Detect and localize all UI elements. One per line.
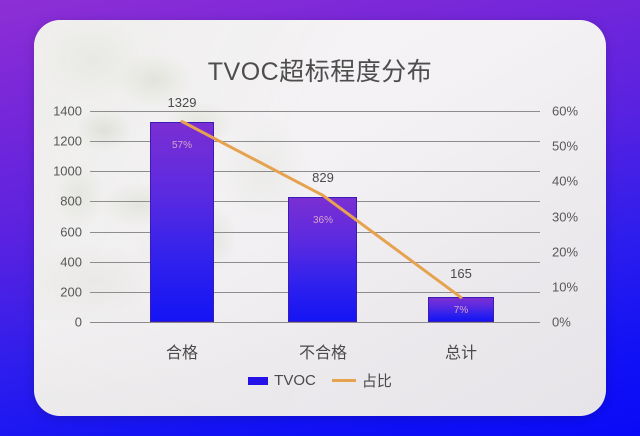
x-axis-label: 合格 bbox=[166, 339, 198, 363]
legend-item-percentage[interactable]: 占比 bbox=[332, 370, 392, 391]
y-axis-tick: 800 bbox=[60, 194, 82, 209]
y2-axis-tick: 60% bbox=[552, 104, 578, 119]
y2-axis-tick: 0% bbox=[552, 315, 571, 330]
bar-value-label: 1329 bbox=[168, 95, 197, 110]
line-swatch-icon bbox=[332, 379, 356, 382]
pct-label: 7% bbox=[454, 305, 468, 316]
bar-value-label: 829 bbox=[312, 170, 334, 185]
gridline-1400 bbox=[90, 111, 540, 112]
y-axis-tick: 200 bbox=[60, 285, 82, 300]
y2-axis-tick: 50% bbox=[552, 139, 578, 154]
y2-axis-tick: 40% bbox=[552, 174, 578, 189]
legend-label: TVOC bbox=[274, 372, 316, 389]
y2-axis-tick: 30% bbox=[552, 210, 578, 225]
y-axis-tick: 600 bbox=[60, 225, 82, 240]
axis-baseline bbox=[90, 322, 540, 323]
plot-area: 1400 1200 1000 800 600 400 200 0 60% 50%… bbox=[90, 111, 540, 322]
y-axis-tick: 1000 bbox=[53, 164, 82, 179]
y-axis-tick: 0 bbox=[75, 315, 82, 330]
y-axis-tick: 1200 bbox=[53, 134, 82, 149]
legend-label: 占比 bbox=[362, 370, 392, 391]
x-axis-label: 不合格 bbox=[299, 339, 347, 363]
x-axis-label: 总计 bbox=[445, 339, 477, 363]
y2-axis-tick: 10% bbox=[552, 280, 578, 295]
bar-value-label: 165 bbox=[450, 266, 472, 281]
y-axis-tick: 400 bbox=[60, 255, 82, 270]
y-axis-tick: 1400 bbox=[53, 104, 82, 119]
legend-item-tvoc[interactable]: TVOC bbox=[248, 372, 316, 389]
y2-axis-tick: 20% bbox=[552, 245, 578, 260]
slide-background: TVOC超标程度分布 1400 1200 1000 800 600 400 20… bbox=[0, 0, 640, 436]
bar-swatch-icon bbox=[248, 377, 268, 385]
chart-legend: TVOC 占比 bbox=[34, 370, 606, 391]
chart-title: TVOC超标程度分布 bbox=[34, 52, 606, 88]
chart-card: TVOC超标程度分布 1400 1200 1000 800 600 400 20… bbox=[34, 20, 606, 416]
pct-label: 57% bbox=[172, 140, 192, 151]
pct-label: 36% bbox=[313, 215, 333, 226]
bar-合格[interactable] bbox=[150, 122, 214, 322]
